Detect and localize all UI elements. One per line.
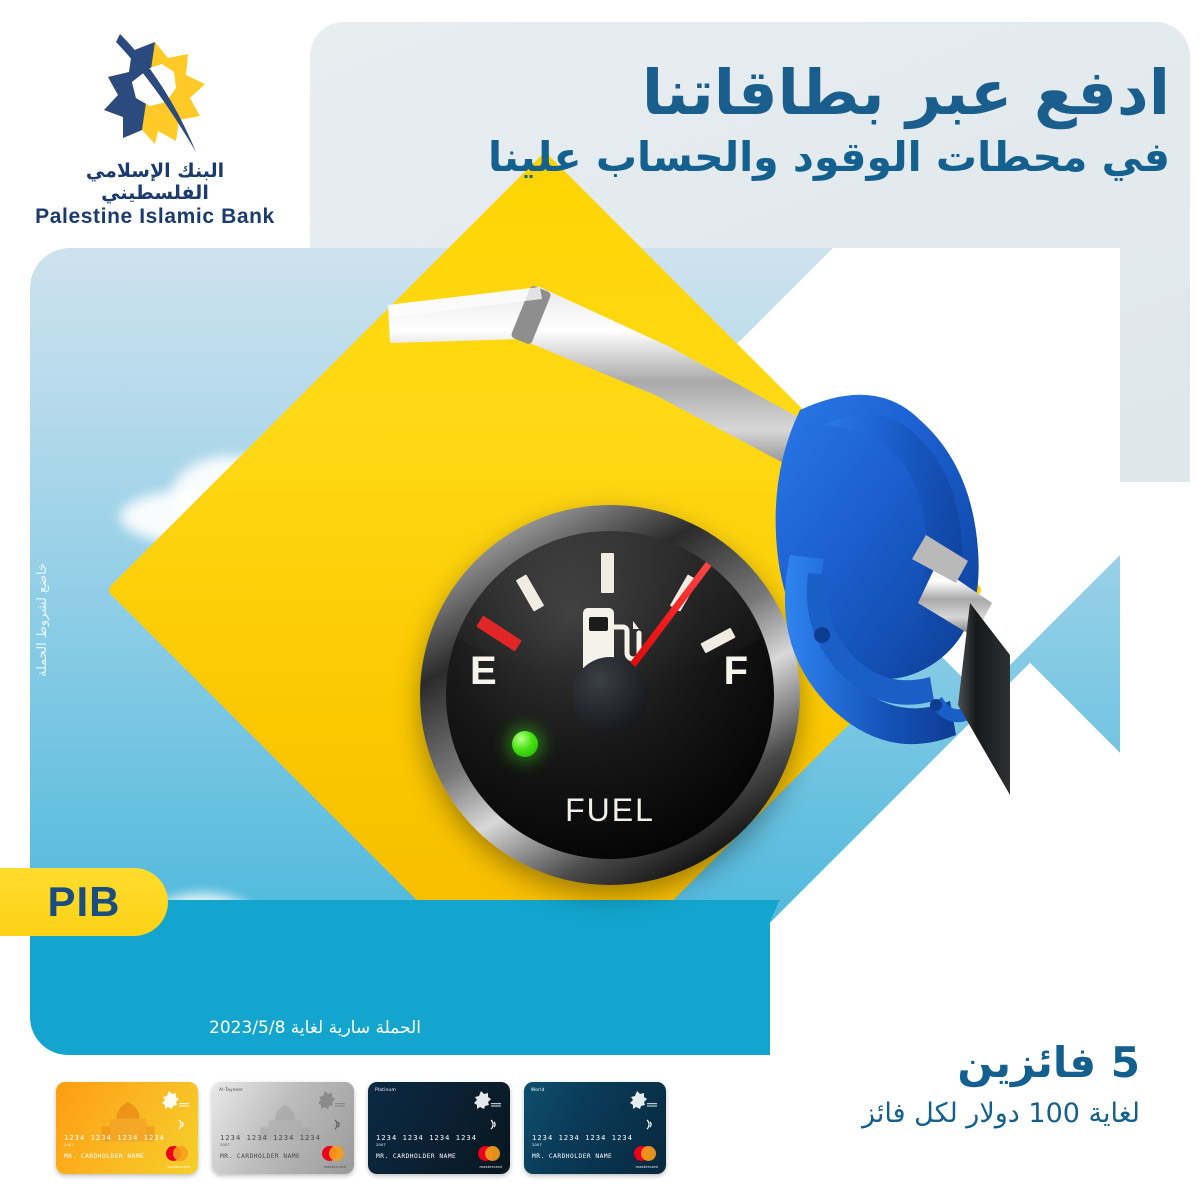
mastercard-label: mastercard [636, 1165, 658, 1169]
card-number: 1234 1234 1234 1234 [376, 1134, 477, 1142]
card-chip-icon [221, 1112, 240, 1126]
card-item[interactable]: Platinum 1234 1234 1234 1234 2007 MR. CA… [368, 1082, 510, 1174]
card-holder-name: MR. CARDHOLDER NAME [376, 1153, 456, 1160]
mastercard-label: mastercard [480, 1165, 502, 1169]
bank-logo-block: البنك الإسلامي الفلسطيني Palestine Islam… [30, 28, 280, 229]
card-tier-label: Al-Tayseer [219, 1088, 243, 1093]
card-holder-name: MR. CARDHOLDER NAME [64, 1153, 144, 1160]
card-thru: 2007 [64, 1143, 74, 1147]
card-bank-logo-icon [160, 1089, 190, 1111]
headline-main: ادفع عبر بطاقاتنا [330, 60, 1170, 126]
contactless-icon [645, 1118, 656, 1131]
bank-name-english: Palestine Islamic Bank [30, 205, 280, 229]
mastercard-icon [164, 1145, 190, 1162]
mastercard-icon [476, 1145, 502, 1162]
pib-badge-label: PIB [48, 878, 121, 926]
card-number: 1234 1234 1234 1234 [220, 1134, 321, 1142]
promo-text-block: 5 فائزين لغاية 100 دولار لكل فائز [720, 1040, 1140, 1129]
campaign-date-text: الحملة سارية لغاية 2023/5/8 [165, 1018, 465, 1038]
card-tier-label: Platinum [375, 1088, 396, 1093]
contactless-icon [489, 1118, 500, 1131]
card-chip-icon [65, 1112, 84, 1126]
card-chip-icon [533, 1112, 552, 1126]
advertisement-canvas: الحملة سارية لغاية 2023/5/8 خاضع لشروط ا… [0, 0, 1200, 1200]
card-number: 1234 1234 1234 1234 [532, 1134, 633, 1142]
mastercard-icon [320, 1145, 346, 1162]
card-item[interactable]: Al-Tayseer 1234 1234 1234 1234 2007 MR. … [212, 1082, 354, 1174]
headline-text-block: ادفع عبر بطاقاتنا في محطات الوقود والحسا… [330, 60, 1198, 181]
card-number: 1234 1234 1234 1234 [64, 1134, 165, 1142]
campaign-terms-vertical-text: خاضع لشروط الحملة [35, 540, 50, 700]
card-thru: 2007 [220, 1143, 230, 1147]
card-thru: 2007 [376, 1143, 386, 1147]
contactless-icon [333, 1118, 344, 1131]
promo-title: 5 فائزين [720, 1040, 1140, 1086]
contactless-icon [177, 1118, 188, 1131]
mastercard-icon [632, 1145, 658, 1162]
card-holder-name: MR. CARDHOLDER NAME [220, 1153, 300, 1160]
card-bank-logo-icon [472, 1089, 502, 1111]
mastercard-label: mastercard [324, 1165, 346, 1169]
card-bank-logo-icon [316, 1089, 346, 1111]
bank-name-arabic: البنك الإسلامي الفلسطيني [30, 160, 280, 204]
pib-badge: PIB [0, 868, 168, 936]
headline-sub: في محطات الوقود والحساب علينا [330, 134, 1170, 181]
card-bank-logo-icon [628, 1089, 658, 1111]
card-holder-name: MR. CARDHOLDER NAME [532, 1153, 612, 1160]
card-strip: World 1234 1234 1234 1234 2007 MR. CARDH… [26, 1082, 666, 1182]
card-item[interactable]: 1234 1234 1234 1234 2007 MR. CARDHOLDER … [56, 1082, 198, 1174]
pib-eight-point-star-logo-icon [90, 28, 220, 158]
promo-subtitle: لغاية 100 دولار لكل فائز [720, 1098, 1140, 1129]
card-chip-icon [377, 1112, 396, 1126]
card-tier-label: World [531, 1088, 545, 1093]
card-thru: 2007 [532, 1143, 542, 1147]
card-item[interactable]: World 1234 1234 1234 1234 2007 MR. CARDH… [524, 1082, 666, 1174]
mastercard-label: mastercard [168, 1165, 190, 1169]
blue-fuel-nozzle-icon [370, 235, 1010, 855]
